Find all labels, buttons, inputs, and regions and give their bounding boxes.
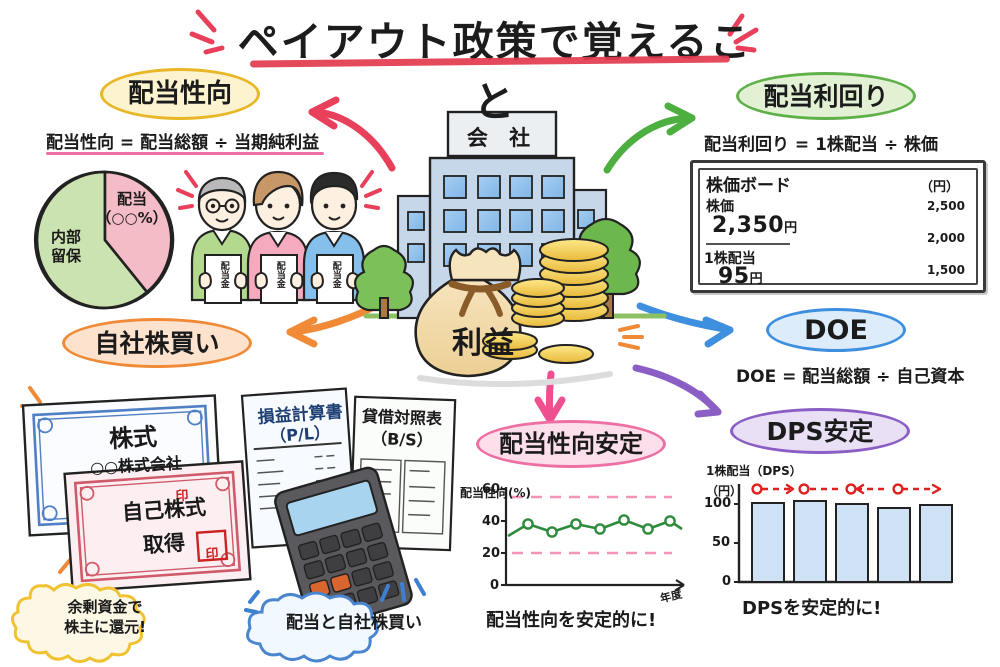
arrow-to-doe [640,306,730,344]
payout-stability-chart [501,487,684,590]
pie-retained-line2: 留保 [51,247,81,265]
payout-chart-tick-60: 60 [482,482,500,497]
formula-dividend-yield: 配当利回り = 1株配当 ÷ 株価 [704,130,938,155]
stock-chart-tick-2500: 2,500 [927,199,965,213]
shareholder-paper-2-label: 配当金 [274,261,283,288]
company-sign-label: 会 社 [448,122,556,152]
payout-chart-tick-0: 0 [490,578,499,593]
stock-chart-tick-2000: 2,000 [927,231,965,245]
pie-dividend-value: （○○%） [96,209,167,227]
bubble-dividend-and-buyback: 配当と自社株買い [262,612,446,635]
formula-doe: DOE = 配当総額 ÷ 自己資本 [736,362,964,387]
dps-unit: 円 [750,272,763,287]
title-spark-left [192,12,222,52]
dps-chart-tick-50: 50 [712,535,730,550]
formula-payout-ratio: 配当性向 = 配当総額 ÷ 当期純利益 [46,128,319,153]
bubble-surplus-return: 余剰資金で 株主に還元! [30,597,180,638]
shareholder-paper-3-label: 配当金 [330,261,339,288]
payout-chart-tick-40: 40 [482,514,500,529]
certificate-pink-seal: 印 [197,542,226,563]
dps-chart-ylabel: 1株配当（DPS） [706,462,802,479]
pie-slice-label-retained: 内部 留保 [36,228,96,266]
label-dps-stability[interactable]: DPS安定 [730,408,910,454]
formula-payout-ratio-underline [46,152,324,155]
dps-value: 95 [718,264,750,289]
label-payout-stability[interactable]: 配当性向安定 [476,420,666,468]
shareholder-paper-2: 配当金 [265,261,293,291]
bubble-surplus-line1: 余剰資金で [67,598,142,616]
stock-price-value: 2,350 [712,213,784,238]
stock-chart-axis-unit: （円） [920,176,959,195]
dps-chart-tick-0: 0 [722,574,731,589]
stock-board-divider [706,243,790,245]
profit-bag-label: 利益 [438,318,530,362]
payout-chart-tick-20: 20 [482,546,500,561]
label-dividend-yield[interactable]: 配当利回り [736,72,916,120]
label-share-buyback[interactable]: 自社株買い [62,318,252,368]
shareholder-paper-1: 配当金 [209,261,237,291]
bubble-surplus-line2: 株主に還元! [64,618,146,636]
stock-board-title: 株価ボード [706,171,791,196]
payout-chart-caption: 配当性向を安定的に! [486,606,656,632]
dps-chart-caption: DPSを安定的に! [742,594,881,620]
pie-retained-line1: 内部 [51,228,81,246]
dps-stability-chart [734,484,952,582]
pie-slice-label-dividend: 配当 （○○%） [94,190,170,228]
arrow-to-dps [636,368,718,414]
label-doe[interactable]: DOE [766,308,906,352]
infographic-canvas: ペイアウト政策で覚えること 配当性向 配当性向 = 配当総額 ÷ 当期純利益 配… [0,0,1000,667]
page-title: ペイアウト政策で覚えること [235,8,755,128]
shareholder-paper-3: 配当金 [321,261,349,291]
doc-bs-subtitle: （B/S） [350,424,455,452]
pie-dividend-name: 配当 [117,190,147,208]
dps-chart-tick-100: 100 [704,496,731,511]
stock-chart-tick-1500: 1,500 [927,263,965,277]
stock-price-value-row: 2,350円 [712,213,797,238]
stock-price-unit: 円 [784,221,797,236]
dps-value-row: 95円 [718,264,763,289]
label-payout-ratio[interactable]: 配当性向 [100,68,260,120]
shareholder-paper-1-label: 配当金 [218,261,227,288]
